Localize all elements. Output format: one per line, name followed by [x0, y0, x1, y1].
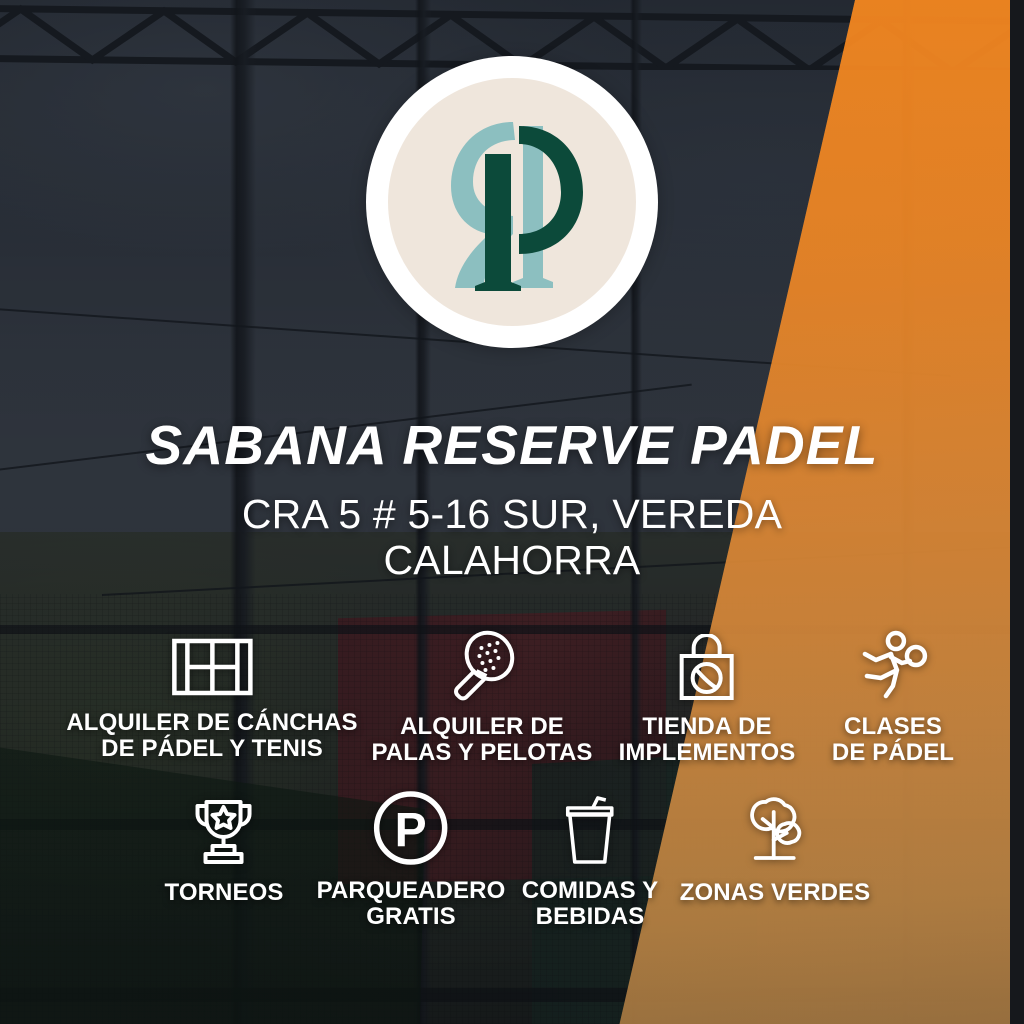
feature-racket-ball-rental[interactable]: ALQUILER DE PALAS Y PELOTAS — [371, 630, 592, 767]
feature-free-parking[interactable]: P PARQUEADERO GRATIS — [317, 790, 506, 931]
promo-poster: SABANA RESERVE PADEL CRA 5 # 5-16 SUR, V… — [0, 0, 1024, 1024]
feature-green-areas[interactable]: ZONAS VERDES — [680, 792, 871, 906]
padel-racket-icon — [446, 630, 518, 702]
feature-court-rental[interactable]: ALQUILER DE CÁNCHAS DE PÁDEL Y TENIS — [66, 636, 357, 763]
feature-label: ALQUILER DE PALAS Y PELOTAS — [371, 714, 592, 767]
feature-label: PARQUEADERO GRATIS — [317, 878, 506, 931]
feature-label: TORNEOS — [165, 880, 284, 906]
padel-court-icon — [171, 636, 253, 698]
brand-logo — [366, 56, 658, 348]
svg-text:P: P — [395, 804, 427, 857]
rp-monogram-icon — [427, 112, 597, 292]
feature-label: ALQUILER DE CÁNCHAS DE PÁDEL Y TENIS — [66, 710, 357, 763]
trophy-icon — [191, 796, 257, 868]
drink-cup-icon — [562, 796, 618, 866]
tree-icon — [736, 792, 814, 868]
feature-label: COMIDAS Y BEBIDAS — [522, 878, 658, 931]
shopping-bag-icon — [674, 634, 740, 702]
feature-label: CLASES DE PÁDEL — [832, 714, 954, 767]
brand-logo-disc — [388, 78, 636, 326]
feature-label: TIENDA DE IMPLEMENTOS — [619, 714, 796, 767]
running-player-icon — [855, 630, 931, 702]
right-edge-bar — [1010, 0, 1024, 1024]
feature-food-drinks[interactable]: COMIDAS Y BEBIDAS — [522, 796, 658, 931]
address-subtitle: CRA 5 # 5-16 SUR, VEREDA CALAHORRA — [192, 492, 832, 584]
feature-equipment-shop[interactable]: TIENDA DE IMPLEMENTOS — [619, 634, 796, 767]
feature-tournaments[interactable]: TORNEOS — [165, 796, 284, 906]
feature-padel-classes[interactable]: CLASES DE PÁDEL — [832, 630, 954, 767]
page-title: SABANA RESERVE PADEL — [0, 418, 1024, 473]
feature-label: ZONAS VERDES — [680, 880, 871, 906]
parking-icon: P — [373, 790, 449, 866]
